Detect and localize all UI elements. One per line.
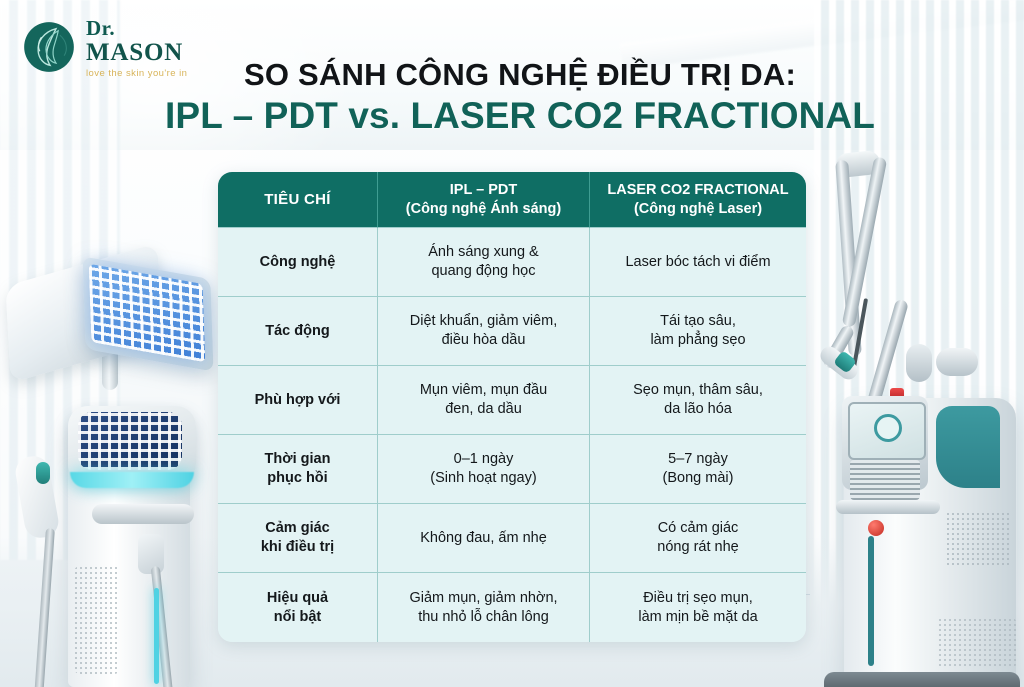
- cell-laser: Tái tạo sâu, làm phẳng sẹo: [590, 297, 806, 366]
- poster-stage: Dr. MASON love the skin you're in SO SÁN…: [0, 0, 1024, 687]
- table-row: Cảm giác khi điều trị Không đau, ấm nhẹ …: [218, 504, 806, 573]
- table-row: Tác động Diệt khuẩn, giảm viêm, điều hòa…: [218, 297, 806, 366]
- cell-ipl: Ánh sáng xung & quang động học: [378, 228, 590, 297]
- table-header-row: TIÊU CHÍ IPL – PDT (Công nghệ Ánh sáng) …: [218, 172, 806, 228]
- table-body: Công nghệ Ánh sáng xung & quang động học…: [218, 228, 806, 642]
- device-screen: [78, 412, 182, 470]
- table-head: TIÊU CHÍ IPL – PDT (Công nghệ Ánh sáng) …: [218, 172, 806, 228]
- column-header-ipl-pdt: IPL – PDT (Công nghệ Ánh sáng): [378, 172, 590, 228]
- column-header-laser-co2: LASER CO2 FRACTIONAL (Công nghệ Laser): [590, 172, 806, 228]
- page-title-line2: IPL – PDT vs. LASER CO2 FRACTIONAL: [140, 96, 900, 137]
- cell-criterion: Tác động: [218, 297, 378, 366]
- cell-ipl: Mụn viêm, mụn đầu đen, da dầu: [378, 366, 590, 435]
- co2-laser-device-image: [806, 148, 1024, 687]
- page-title-line1: SO SÁNH CÔNG NGHỆ ĐIỀU TRỊ DA:: [140, 58, 900, 91]
- leaf-face-logo-icon: [22, 20, 76, 74]
- cell-criterion: Cảm giác khi điều trị: [218, 504, 378, 573]
- table-row: Công nghệ Ánh sáng xung & quang động học…: [218, 228, 806, 297]
- cell-ipl: Giảm mụn, giảm nhờn, thu nhỏ lỗ chân lôn…: [378, 573, 590, 642]
- cell-ipl: 0–1 ngày (Sinh hoạt ngay): [378, 435, 590, 504]
- cell-criterion: Phù hợp với: [218, 366, 378, 435]
- cell-laser: Sẹo mụn, thâm sâu, da lão hóa: [590, 366, 806, 435]
- cell-laser: Laser bóc tách vi điểm: [590, 228, 806, 297]
- cell-criterion: Thời gian phục hồi: [218, 435, 378, 504]
- emergency-stop-icon: [868, 520, 884, 536]
- cell-laser: 5–7 ngày (Bong mài): [590, 435, 806, 504]
- cell-ipl: Không đau, ấm nhẹ: [378, 504, 590, 573]
- column-header-criterion: TIÊU CHÍ: [218, 172, 378, 228]
- table-row: Phù hợp với Mụn viêm, mụn đầu đen, da dầ…: [218, 366, 806, 435]
- led-pdt-device-image: [6, 236, 218, 687]
- table-row: Hiệu quả nổi bật Giảm mụn, giảm nhờn, th…: [218, 573, 806, 642]
- poster-title-block: SO SÁNH CÔNG NGHỆ ĐIỀU TRỊ DA: IPL – PDT…: [140, 58, 900, 137]
- cell-laser: Có cảm giác nóng rát nhẹ: [590, 504, 806, 573]
- logo-line-dr: Dr.: [86, 18, 187, 39]
- comparison-table: TIÊU CHÍ IPL – PDT (Công nghệ Ánh sáng) …: [218, 172, 806, 642]
- table-row: Thời gian phục hồi 0–1 ngày (Sinh hoạt n…: [218, 435, 806, 504]
- cell-criterion: Hiệu quả nổi bật: [218, 573, 378, 642]
- laser-dial-icon: [874, 414, 902, 442]
- cell-ipl: Diệt khuẩn, giảm viêm, điều hòa dầu: [378, 297, 590, 366]
- cell-laser: Điều trị sẹo mụn, làm mịn bề mặt da: [590, 573, 806, 642]
- cell-criterion: Công nghệ: [218, 228, 378, 297]
